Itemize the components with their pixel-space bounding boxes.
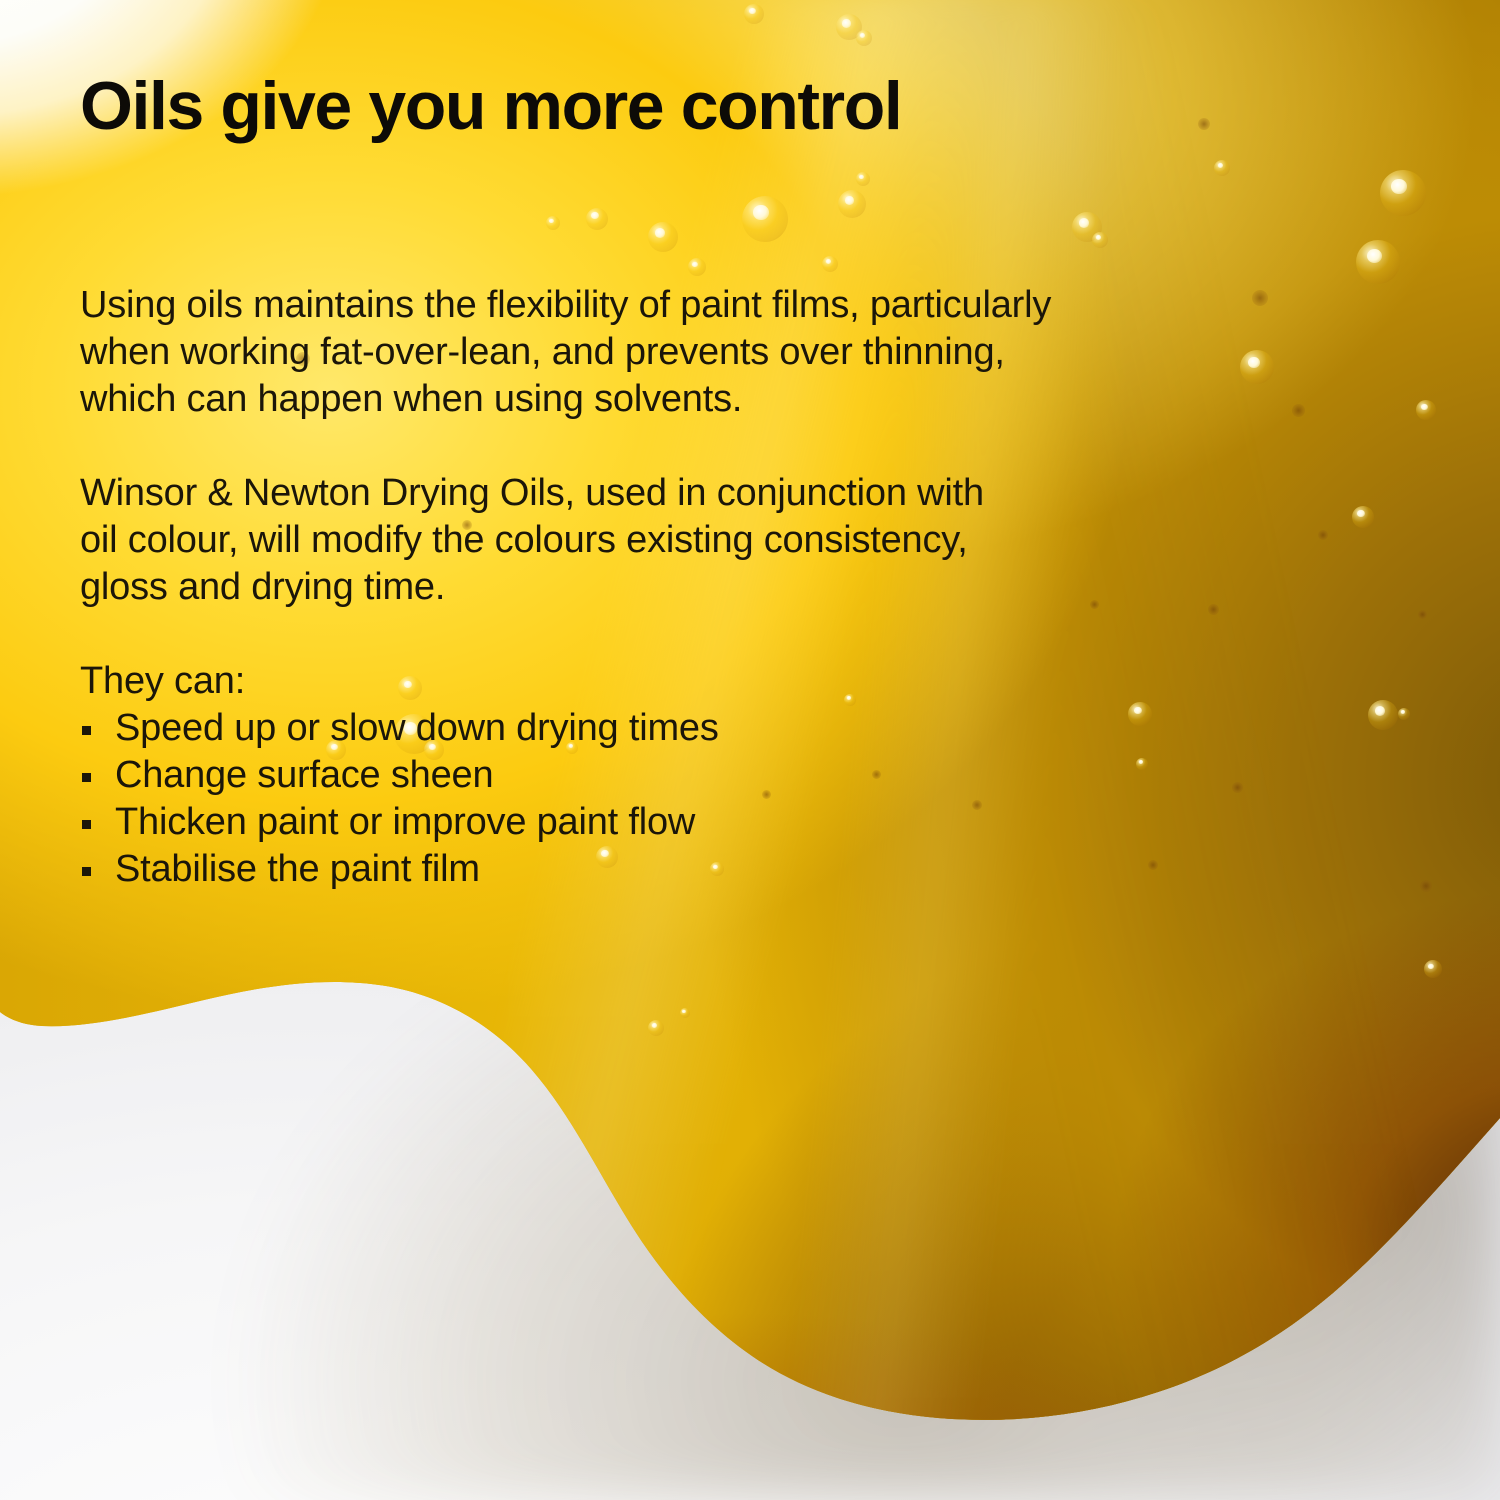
list-item-label: Speed up or slow down drying times	[115, 707, 719, 749]
paragraph-2-line-3: gloss and drying time.	[80, 564, 1270, 611]
square-bullet-icon	[82, 726, 91, 735]
list-intro: They can:	[80, 658, 1270, 705]
paragraph-2-line-2: oil colour, will modify the colours exis…	[80, 517, 1270, 564]
list-item: Thicken paint or improve paint flow	[80, 799, 1270, 846]
paragraph-1-line-1: Using oils maintains the flexibility of …	[80, 282, 1270, 329]
list-item-label: Change surface sheen	[115, 754, 493, 796]
oil-bubble	[1356, 240, 1400, 284]
list-item-label: Stabilise the paint film	[115, 848, 480, 890]
benefits-list: Speed up or slow down drying times Chang…	[80, 705, 1270, 893]
oil-bubble	[1368, 700, 1398, 730]
oil-infographic-image: Oils give you more control Using oils ma…	[0, 0, 1500, 1500]
body-copy: Using oils maintains the flexibility of …	[80, 282, 1270, 893]
oil-bubble	[1380, 170, 1426, 216]
paragraph-2: Winsor & Newton Drying Oils, used in con…	[80, 470, 1270, 611]
paragraph-1-line-3: which can happen when using solvents.	[80, 376, 1270, 423]
paragraph-2-line-1: Winsor & Newton Drying Oils, used in con…	[80, 470, 1270, 517]
square-bullet-icon	[82, 773, 91, 782]
list-item: Stabilise the paint film	[80, 846, 1270, 893]
list-item: Change surface sheen	[80, 752, 1270, 799]
square-bullet-icon	[82, 867, 91, 876]
square-bullet-icon	[82, 820, 91, 829]
paragraph-1: Using oils maintains the flexibility of …	[80, 282, 1270, 423]
oil-bubble	[1398, 708, 1410, 720]
list-item: Speed up or slow down drying times	[80, 705, 1270, 752]
oil-speck	[1418, 610, 1427, 619]
paragraph-1-line-2: when working fat-over-lean, and prevents…	[80, 329, 1270, 376]
text-content: Oils give you more control Using oils ma…	[80, 0, 1360, 1500]
list-item-label: Thicken paint or improve paint flow	[115, 801, 695, 843]
oil-speck	[1420, 880, 1432, 892]
oil-bubble	[1424, 960, 1442, 978]
oil-bubble	[1416, 400, 1436, 420]
page-title: Oils give you more control	[80, 72, 901, 140]
